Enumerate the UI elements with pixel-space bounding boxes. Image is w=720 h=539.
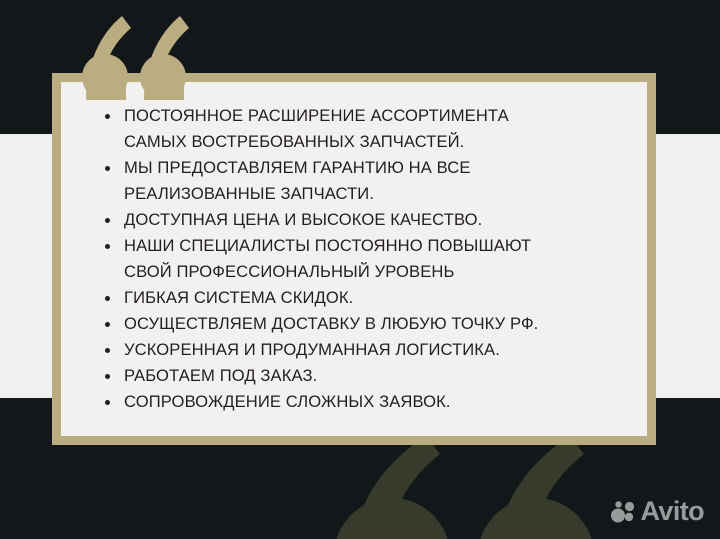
list-item: ГИБКАЯ СИСТЕМА СКИДОК. xyxy=(105,285,617,311)
list-item: ДОСТУПНАЯ ЦЕНА И ВЫСОКОЕ КАЧЕСТВО. xyxy=(105,207,617,233)
list-item: ОСУЩЕСТВЛЯЕМ ДОСТАВКУ В ЛЮБУЮ ТОЧКУ РФ. xyxy=(105,311,617,337)
avito-label: Avito xyxy=(641,498,705,525)
list-item: УСКОРЕННАЯ И ПРОДУМАННАЯ ЛОГИСТИКА. xyxy=(105,337,617,363)
benefits-list: ПОСТОЯННОЕ РАСШИРЕНИЕ АССОРТИМЕНТА САМЫХ… xyxy=(105,103,617,415)
quote-card: ПОСТОЯННОЕ РАСШИРЕНИЕ АССОРТИМЕНТА САМЫХ… xyxy=(52,73,656,445)
list-item: РАБОТАЕМ ПОД ЗАКАЗ. xyxy=(105,363,617,389)
list-item: ПОСТОЯННОЕ РАСШИРЕНИЕ АССОРТИМЕНТА САМЫХ… xyxy=(105,103,617,155)
avito-dots-icon xyxy=(610,499,636,525)
quote-card-inner: ПОСТОЯННОЕ РАСШИРЕНИЕ АССОРТИМЕНТА САМЫХ… xyxy=(61,82,647,436)
slide-canvas: ПОСТОЯННОЕ РАСШИРЕНИЕ АССОРТИМЕНТА САМЫХ… xyxy=(0,0,720,539)
list-item: МЫ ПРЕДОСТАВЛЯЕМ ГАРАНТИЮ НА ВСЕ РЕАЛИЗО… xyxy=(105,155,617,207)
list-item: СОПРОВОЖДЕНИЕ СЛОЖНЫХ ЗАЯВОК. xyxy=(105,389,617,415)
list-item: НАШИ СПЕЦИАЛИСТЫ ПОСТОЯННО ПОВЫШАЮТ СВОЙ… xyxy=(105,233,617,285)
avito-watermark: Avito xyxy=(610,498,705,525)
